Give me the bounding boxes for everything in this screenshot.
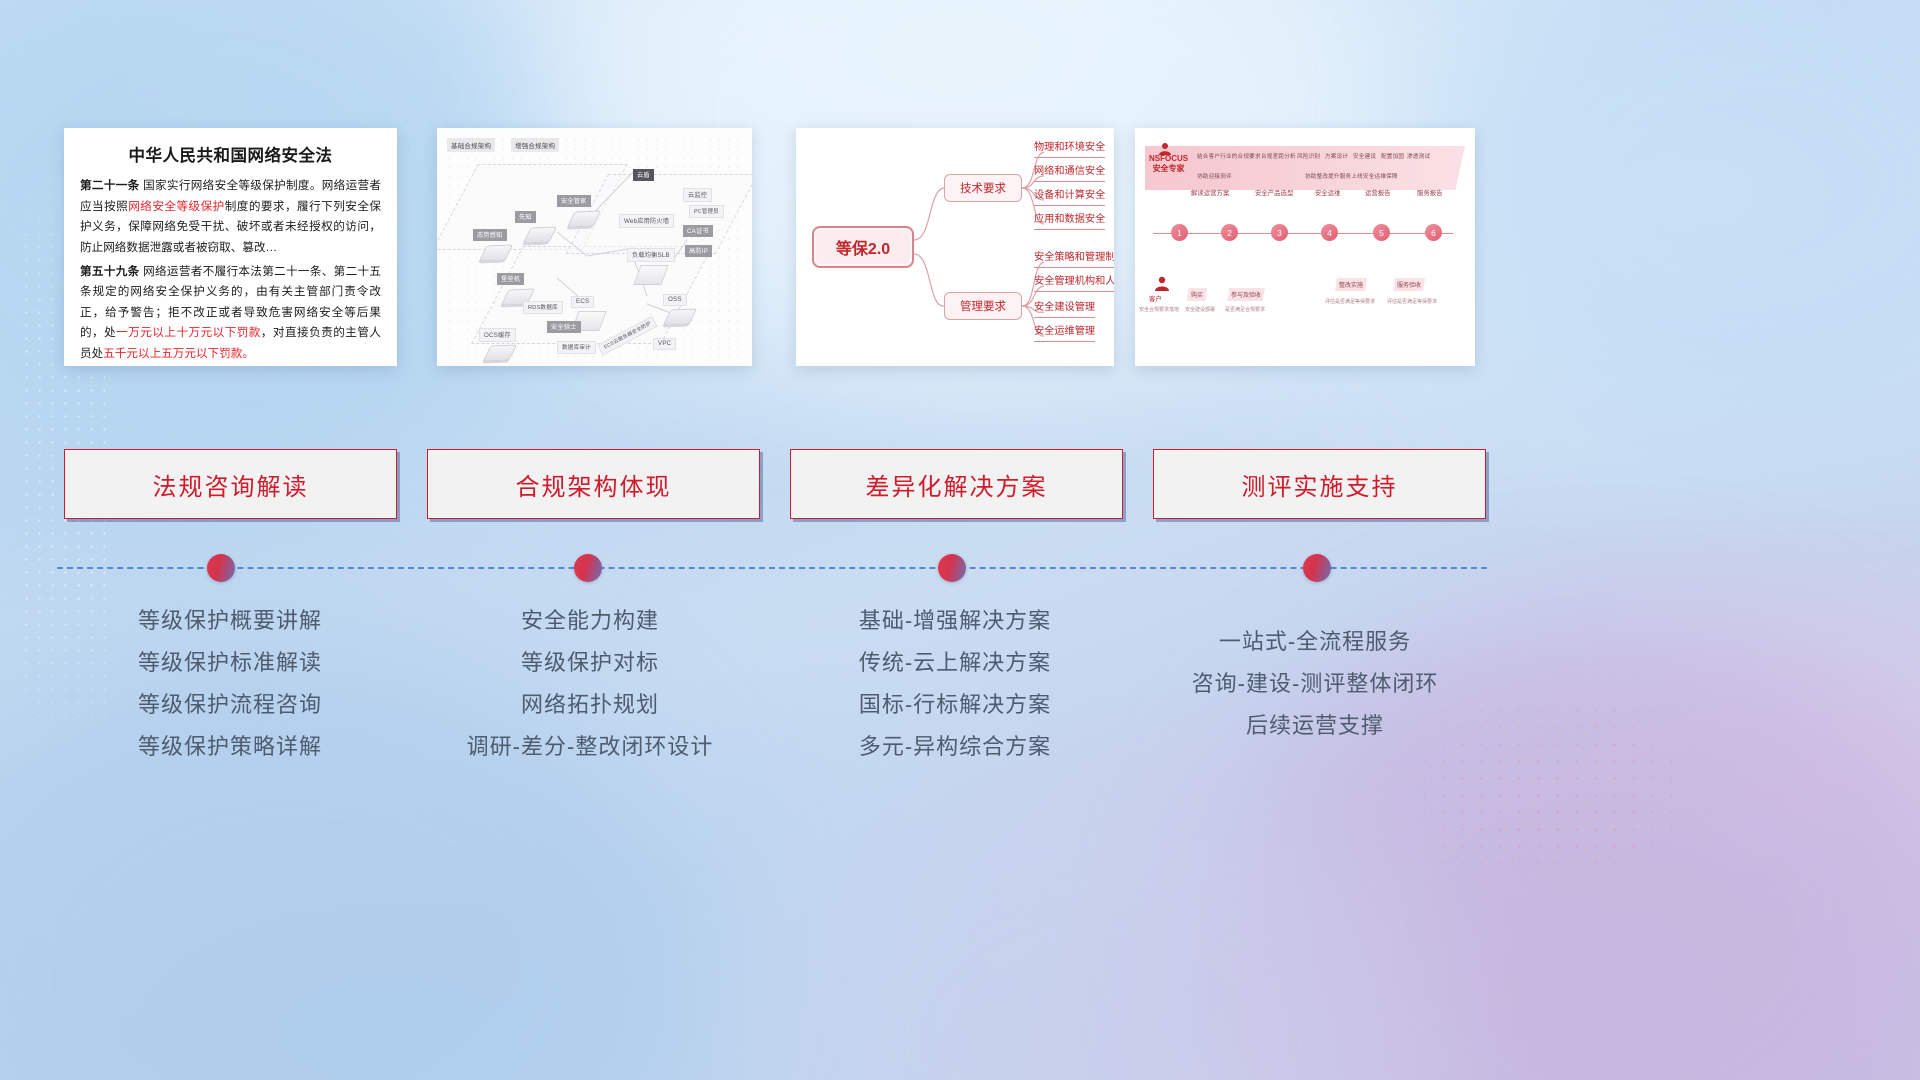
architecture-node-rds: RDS数据库 xyxy=(523,296,563,314)
architecture-node-shape xyxy=(479,245,513,262)
architecture-node-shape xyxy=(567,211,601,228)
roadmap-bottom-tag: 参与及验收 xyxy=(1227,288,1265,301)
law-article-59-highlight-1: 一万元以上十万元以下罚款 xyxy=(116,326,261,339)
roadmap-brand-sub: 安全专家 xyxy=(1153,164,1185,173)
card-compliance-architecture: 基础合规架构 增强合规架构 xyxy=(437,128,752,366)
roadmap-band-item: 结合客户行业的合规要求 xyxy=(1197,152,1261,160)
law-document: 中华人民共和国网络安全法 第二十一条 国家实行网络安全等级保护制度。网络运营者应… xyxy=(64,128,397,366)
roadmap-axis xyxy=(1153,233,1453,234)
architecture-node-label: PC管理员 xyxy=(689,205,724,218)
law-title: 中华人民共和国网络安全法 xyxy=(80,142,381,166)
architecture-node-label: Web应用防火墙 xyxy=(619,214,674,228)
timeline-dot-4[interactable] xyxy=(1303,554,1331,582)
architecture-node-label: 堡垒机 xyxy=(497,273,524,285)
pillar-header-label: 合规架构体现 xyxy=(516,467,672,502)
roadmap-band-item: 方案设计 xyxy=(1325,152,1348,160)
timeline-dot-3[interactable] xyxy=(938,554,966,582)
architecture-node-shape xyxy=(523,227,557,244)
mindmap-leaf: 网络和通信安全 xyxy=(1034,166,1105,182)
detail-list-solution: 基础-增强解决方案 传统-云上解决方案 国标-行标解决方案 多元-异构综合方案 xyxy=(770,600,1140,768)
architecture-node-xianzhi: 先知 xyxy=(515,206,553,243)
architecture-node-pc-admin: PC管理员 xyxy=(689,200,724,218)
list-item: 一站式-全流程服务 xyxy=(1130,621,1500,663)
architecture-node-ocs: OCS缓存 xyxy=(479,324,516,361)
mindmap-root-node: 等保2.0 xyxy=(812,226,914,268)
mindmap-leaf: 安全运维管理 xyxy=(1034,326,1095,342)
law-article-59-highlight-2: 五千元以上五万元以下罚款。 xyxy=(103,347,254,360)
architecture-node-label: 先知 xyxy=(515,211,536,223)
mindmap-branch-technical: 技术要求 xyxy=(944,174,1022,202)
roadmap-step: 3 xyxy=(1271,224,1288,241)
roadmap-role-customer: 客户 xyxy=(1149,294,1162,303)
roadmap-band-item: 合规差距分析 xyxy=(1261,152,1296,160)
architecture-node-label: 云盾 xyxy=(633,169,654,181)
roadmap-band-item: 渗透测试 xyxy=(1407,152,1430,160)
architecture-node-ca: CA证书 xyxy=(683,220,713,238)
roadmap-bottom-sub: 安全建设部署 xyxy=(1185,306,1215,313)
architecture-node-taishiganzhi: 态势感知 xyxy=(473,224,509,261)
roadmap-bottom-tag: 整改实施 xyxy=(1335,278,1367,291)
detail-list-architecture: 安全能力构建 等级保护对标 网络拓扑规划 调研-差分-整改闭环设计 xyxy=(405,600,775,768)
architecture-node-oss: OSS xyxy=(663,288,693,325)
law-article-21-label: 第二十一条 xyxy=(80,179,140,192)
architecture-node-label: ECS xyxy=(571,296,594,308)
list-item: 传统-云上解决方案 xyxy=(770,642,1140,684)
law-article-21-highlight: 网络安全等级保护 xyxy=(128,200,224,213)
roadmap-step: 6 xyxy=(1425,224,1442,241)
roadmap-phase: 服务报告 xyxy=(1417,188,1443,197)
mindmap-branch-management: 管理要求 xyxy=(944,292,1022,320)
list-item: 等级保护流程咨询 xyxy=(45,684,415,726)
law-article-21: 第二十一条 国家实行网络安全等级保护制度。网络运营者应当按照网络安全等级保护制度… xyxy=(80,176,381,259)
architecture-node-slb: 负载均衡SLB xyxy=(627,244,675,285)
architecture-node-db-audit: 数据库审计 xyxy=(557,336,596,354)
list-item: 等级保护对标 xyxy=(405,642,775,684)
timeline-dot-1[interactable] xyxy=(207,554,235,582)
pillar-header-assessment[interactable]: 测评实施支持 xyxy=(1153,449,1486,519)
mindmap-leaf: 应用和数据安全 xyxy=(1034,214,1105,230)
architecture-node-waf: Web应用防火墙 xyxy=(619,210,674,228)
list-item: 网络拓扑规划 xyxy=(405,684,775,726)
roadmap-brand: NSFOCUS 安全专家 xyxy=(1149,154,1188,174)
architecture-node-label: 负载均衡SLB xyxy=(627,248,675,262)
architecture-node-label: 态势感知 xyxy=(473,229,507,241)
detail-list-row: 等级保护概要讲解 等级保护标准解读 等级保护流程咨询 等级保护策略详解 安全能力… xyxy=(0,600,1920,820)
pillar-header-label: 法规咨询解读 xyxy=(153,467,309,502)
architecture-diagram: 基础合规架构 增强合规架构 xyxy=(437,128,752,366)
roadmap-phase: 安全运维 xyxy=(1315,188,1341,197)
architecture-node-shape xyxy=(663,309,697,326)
roadmap-band-item: 协助整改提升服务上线安全运维保障 xyxy=(1305,172,1398,180)
customer-icon xyxy=(1153,276,1171,292)
list-item: 等级保护策略详解 xyxy=(45,726,415,768)
mindmap-leaf: 安全管理机构和人员 xyxy=(1034,276,1114,292)
architecture-node-label: 数据库审计 xyxy=(557,341,596,354)
architecture-node-label: OSS xyxy=(663,294,687,306)
architecture-node-label: VPC xyxy=(653,338,676,350)
mindmap-leaf: 安全建设管理 xyxy=(1034,302,1095,318)
list-item: 调研-差分-整改闭环设计 xyxy=(405,726,775,768)
list-item: 咨询-建设-测评整体闭环 xyxy=(1130,663,1500,705)
card-nsfocus-roadmap: NSFOCUS 安全专家 结合客户行业的合规要求 合规差距分析 风险识别 方案设… xyxy=(1135,128,1475,366)
list-item: 国标-行标解决方案 xyxy=(770,684,1140,726)
roadmap-band-item: 配置加固 xyxy=(1381,152,1404,160)
timeline xyxy=(0,540,1920,600)
list-item: 等级保护标准解读 xyxy=(45,642,415,684)
list-item: 多元-异构综合方案 xyxy=(770,726,1140,768)
timeline-dashed-line xyxy=(57,567,1487,569)
roadmap-role-customer-sub: 安全合规要求落地 xyxy=(1139,306,1179,313)
roadmap-bottom-sub: 评估是否满足等保要求 xyxy=(1325,298,1375,305)
roadmap-phase: 运营报告 xyxy=(1365,188,1391,197)
security-expert-icon xyxy=(1157,142,1173,156)
card-mindmap-dengbao: 等保2.0 技术要求 管理要求 物理和环境安全 网络和通信安全 设备和计算安全 … xyxy=(796,128,1114,366)
roadmap-band-item: 安全建设 xyxy=(1353,152,1376,160)
list-item: 基础-增强解决方案 xyxy=(770,600,1140,642)
slide-stage: 中华人民共和国网络安全法 第二十一条 国家实行网络安全等级保护制度。网络运营者应… xyxy=(0,0,1920,1080)
architecture-node-gaofangip: 高防IP xyxy=(685,240,712,258)
roadmap-bottom-tag: 购买 xyxy=(1187,288,1207,301)
roadmap-phase: 解读运营方案 xyxy=(1191,188,1229,197)
timeline-dot-2[interactable] xyxy=(574,554,602,582)
architecture-node-label: RDS数据库 xyxy=(523,301,563,314)
architecture-node-vpc: VPC xyxy=(653,332,676,350)
mindmap: 等保2.0 技术要求 管理要求 物理和环境安全 网络和通信安全 设备和计算安全 … xyxy=(796,128,1114,366)
law-article-59: 第五十九条 网络运营者不履行本法第二十一条、第二十五条规定的网络安全保护义务的，… xyxy=(80,262,381,365)
list-item: 后续运营支撑 xyxy=(1130,705,1500,747)
illustration-card-row: 中华人民共和国网络安全法 第二十一条 国家实行网络安全等级保护制度。网络运营者应… xyxy=(0,128,1920,366)
architecture-node-anquanguanjia: 安全管家 xyxy=(557,190,597,227)
list-item: 安全能力构建 xyxy=(405,600,775,642)
mindmap-leaf: 安全策略和管理制度 xyxy=(1034,252,1114,268)
mindmap-leaf: 物理和环境安全 xyxy=(1034,142,1105,158)
detail-list-assessment: 一站式-全流程服务 咨询-建设-测评整体闭环 后续运营支撑 xyxy=(1130,600,1500,747)
pillar-header-architecture[interactable]: 合规架构体现 xyxy=(427,449,760,519)
mindmap-leaf: 设备和计算安全 xyxy=(1034,190,1105,206)
law-article-59-label: 第五十九条 xyxy=(80,265,140,278)
card-cybersecurity-law: 中华人民共和国网络安全法 第二十一条 国家实行网络安全等级保护制度。网络运营者应… xyxy=(64,128,397,366)
detail-list-regulation: 等级保护概要讲解 等级保护标准解读 等级保护流程咨询 等级保护策略详解 xyxy=(45,600,415,768)
architecture-node-label: 安全骑士 xyxy=(547,321,581,333)
roadmap-step: 1 xyxy=(1171,224,1188,241)
architecture-node-shape xyxy=(483,345,517,362)
roadmap-bottom-sub: 评估是否满足等保要求 xyxy=(1387,298,1437,305)
pillar-header-regulation[interactable]: 法规咨询解读 xyxy=(64,449,397,519)
architecture-node-label: OCS缓存 xyxy=(479,328,516,342)
pillar-header-row: 法规咨询解读 合规架构体现 差异化解决方案 测评实施支持 xyxy=(0,449,1920,519)
roadmap-band-item: 协助迎接测评 xyxy=(1197,172,1232,180)
roadmap-phase: 安全产品选型 xyxy=(1255,188,1293,197)
roadmap-bottom-sub: 是否满足合规要求 xyxy=(1225,306,1265,313)
roadmap-band-item: 风险识别 xyxy=(1297,152,1320,160)
pillar-header-solution[interactable]: 差异化解决方案 xyxy=(790,449,1123,519)
architecture-node-shape xyxy=(633,265,668,285)
architecture-node-yundun: 云盾 xyxy=(633,164,654,182)
architecture-node-label: CA证书 xyxy=(683,225,713,237)
architecture-node-anqishi: 安全骑士 xyxy=(547,316,581,334)
pillar-header-label: 差异化解决方案 xyxy=(866,467,1048,502)
roadmap-step: 2 xyxy=(1221,224,1238,241)
architecture-node-label: 高防IP xyxy=(685,245,712,257)
roadmap-diagram: NSFOCUS 安全专家 结合客户行业的合规要求 合规差距分析 风险识别 方案设… xyxy=(1135,128,1475,366)
list-item: 等级保护概要讲解 xyxy=(45,600,415,642)
roadmap-bottom-tag: 服务验收 xyxy=(1393,278,1425,291)
architecture-node-label: 安全管家 xyxy=(557,195,591,207)
roadmap-step: 5 xyxy=(1373,224,1390,241)
roadmap-step: 4 xyxy=(1321,224,1338,241)
pillar-header-label: 测评实施支持 xyxy=(1242,467,1398,502)
